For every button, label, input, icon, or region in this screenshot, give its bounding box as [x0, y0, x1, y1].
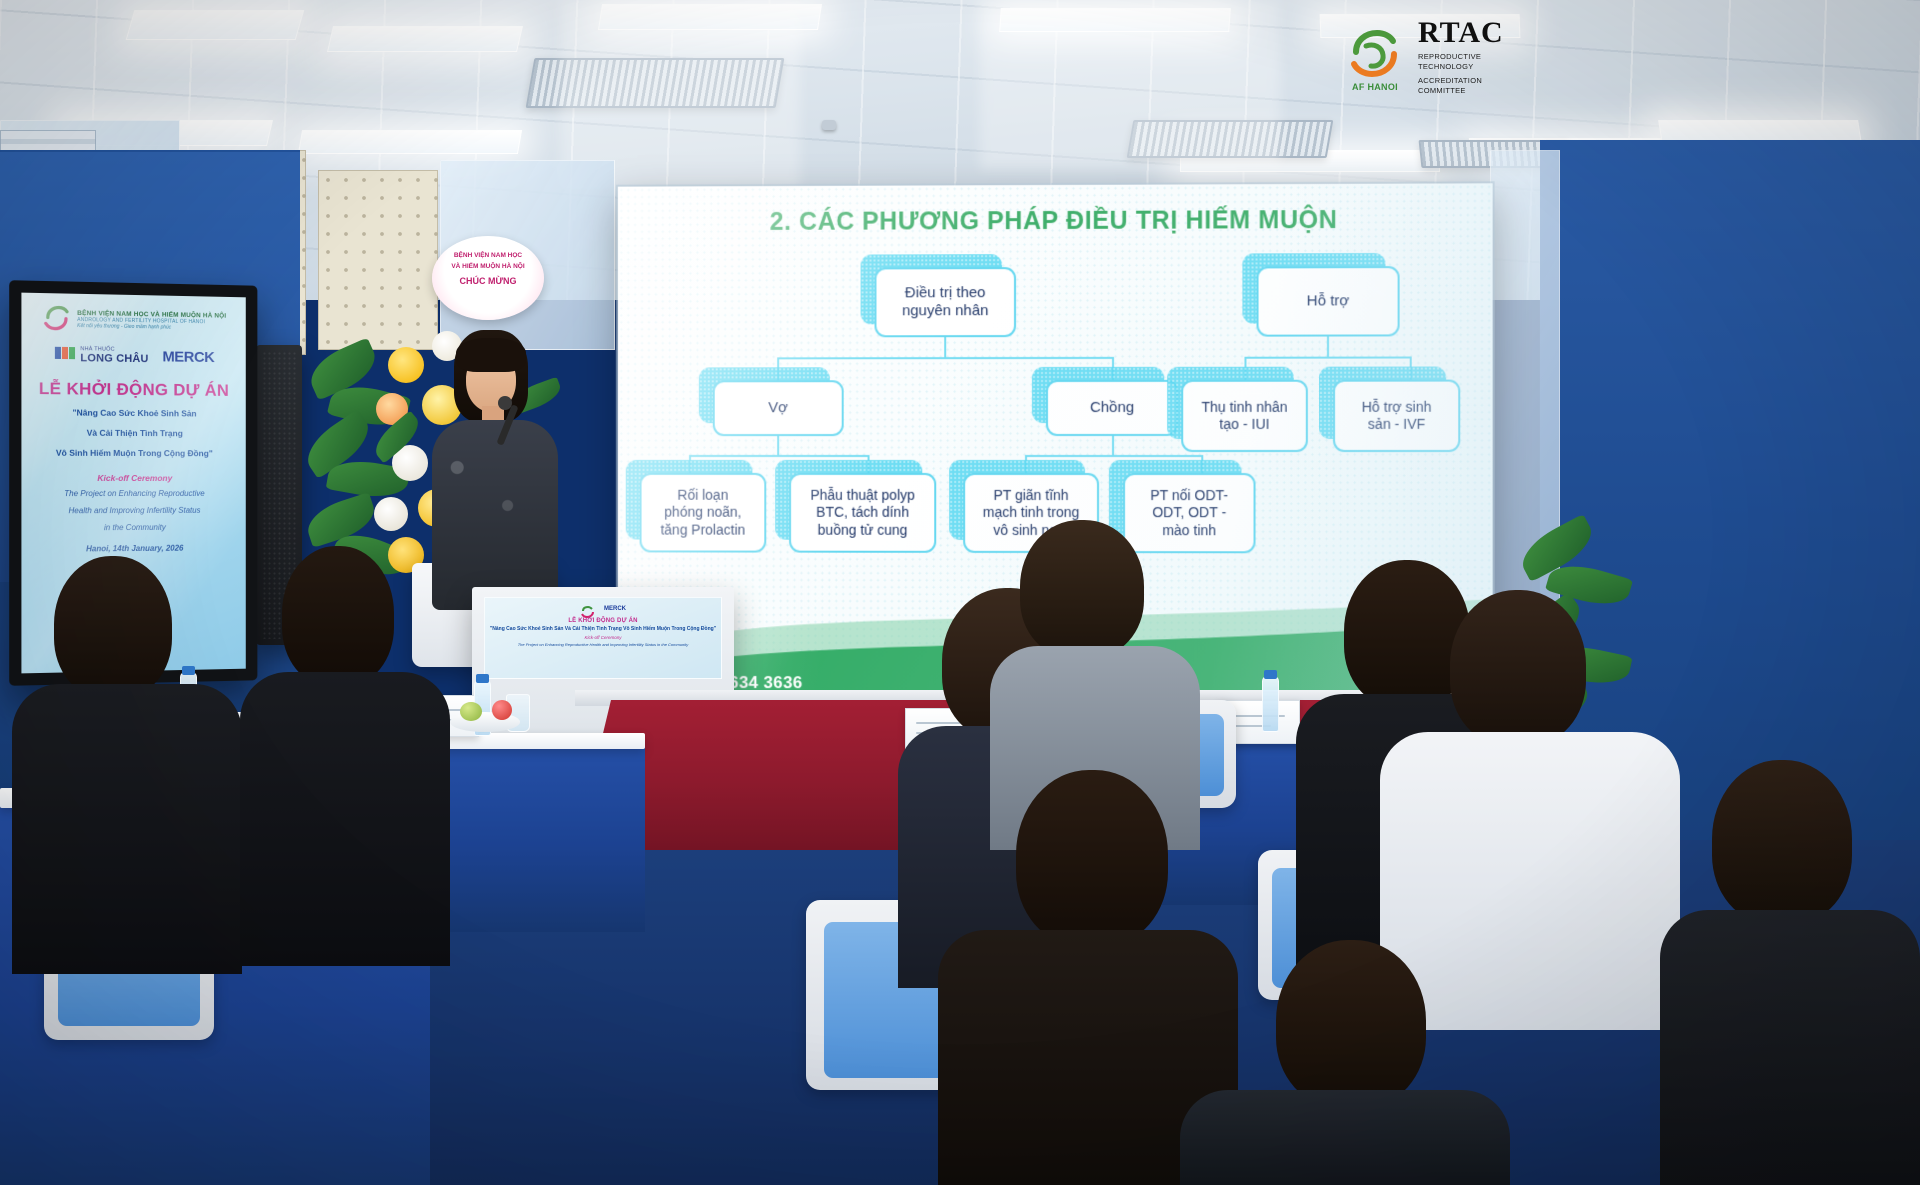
audience-head	[1016, 770, 1168, 946]
podium-kickoff: Kick-off Ceremony	[485, 635, 721, 640]
congratulation-ribbon: BỆNH VIỆN NAM HỌC VÀ HIẾM MUỘN HÀ NỘI CH…	[432, 236, 544, 320]
node-box: Rối loạn phóng noãn, tăng Prolactin	[640, 473, 767, 553]
connector	[1112, 435, 1114, 455]
node-line: Chồng	[1090, 399, 1134, 417]
node-line: Thụ tinh nhân	[1201, 399, 1287, 416]
audience-member	[12, 556, 242, 976]
af-hanoi-logo-icon: AF HANOI	[1342, 24, 1408, 90]
audience-head	[54, 556, 172, 698]
node-line: Rối loạn	[661, 487, 746, 504]
microphone-head	[498, 396, 512, 410]
sprinkler-head	[822, 120, 836, 130]
bottle-cap	[476, 674, 489, 683]
podium-title: LỄ KHỞI ĐỘNG DỰ ÁN	[485, 618, 721, 624]
rtac-text-block: RTAC REPRODUCTIVE TECHNOLOGY ACCREDITATI…	[1418, 18, 1532, 97]
node-line: Vợ	[768, 399, 788, 417]
audience-head	[1020, 520, 1144, 658]
node-line: phóng noãn,	[661, 504, 746, 521]
connector	[1327, 337, 1329, 357]
connector	[689, 455, 868, 457]
presenter-body	[432, 420, 558, 610]
connector	[944, 337, 946, 357]
node-line: Điều trị theo	[902, 284, 988, 302]
node-box: Thụ tinh nhân tạo - IUI	[1181, 380, 1308, 452]
audience-shoulders	[1180, 1090, 1510, 1185]
node-line: PT nối ODT-	[1150, 487, 1228, 504]
fruit-grape	[460, 702, 482, 721]
node-line: BTC, tách dính	[810, 504, 914, 521]
node-box: Hỗ trợ	[1257, 266, 1400, 337]
conference-scene: AF HANOI RTAC REPRODUCTIVE TECHNOLOGY AC…	[0, 0, 1920, 1185]
audience-member	[240, 546, 450, 966]
connector	[1025, 455, 1201, 457]
podium-subtitle: "Nâng Cao Sức Khoẻ Sinh Sản Và Cải Thiện…	[485, 626, 721, 632]
audience-head	[282, 546, 394, 686]
node-line: buồng tử cung	[810, 521, 914, 538]
podium-logos: MERCK	[485, 606, 721, 618]
node-line: Phẫu thuật polyp	[810, 487, 914, 504]
bottle-cap	[1264, 670, 1277, 679]
node-line: mạch tinh trong	[983, 504, 1079, 521]
node-box: Chồng	[1046, 380, 1178, 436]
node-box: Phẫu thuật polyp BTC, tách dính buồng tử…	[789, 473, 936, 553]
audience-head	[1450, 590, 1586, 746]
diagram-node-husband: Chồng	[1046, 380, 1178, 436]
connector	[777, 435, 779, 455]
audience-head	[1712, 760, 1852, 924]
node-line: sản - IVF	[1362, 416, 1432, 433]
rtac-subtitle-1: REPRODUCTIVE TECHNOLOGY	[1418, 52, 1532, 72]
audience-table-mid	[430, 742, 645, 932]
audience-shoulders	[240, 672, 450, 966]
rtac-subtitle-2: ACCREDITATION COMMITTEE	[1418, 76, 1532, 96]
podium-merck-logo: MERCK	[604, 606, 626, 618]
audience-head	[1276, 940, 1426, 1108]
af-hanoi-label: AF HANOI	[1342, 82, 1408, 92]
ribbon-line-2: VÀ HIẾM MUỘN HÀ NỘI	[432, 263, 544, 270]
audience-shoulders	[12, 684, 242, 974]
diagram-node-ivf: Hỗ trợ sinh sản - IVF	[1333, 380, 1460, 452]
audience-member	[1180, 940, 1510, 1185]
ceiling-light	[126, 10, 305, 40]
af-hanoi-logo-icon	[580, 606, 596, 618]
presenter-fringe	[456, 338, 526, 372]
node-line: Hỗ trợ	[1307, 292, 1350, 310]
node-line: tạo - IUI	[1201, 416, 1287, 433]
rtac-logo: AF HANOI RTAC REPRODUCTIVE TECHNOLOGY AC…	[1342, 14, 1532, 100]
fruit-apple	[492, 700, 512, 720]
node-line: nguyên nhân	[902, 302, 988, 320]
perforated-wall-panel	[318, 170, 438, 350]
node-box: Vợ	[713, 380, 844, 436]
diagram-node-wife: Vợ	[713, 380, 844, 436]
podium-english: The Project on Enhancing Reproductive He…	[485, 642, 721, 647]
node-line: tăng Prolactin	[661, 521, 746, 538]
podium-banner: MERCK LỄ KHỞI ĐỘNG DỰ ÁN "Nâng Cao Sức K…	[484, 597, 722, 679]
node-line: PT giãn tĩnh	[983, 487, 1079, 504]
diagram-node-polyp: Phẫu thuật polyp BTC, tách dính buồng tử…	[789, 473, 936, 553]
node-line: Hỗ trợ sinh	[1362, 399, 1432, 416]
ribbon-line-1: BỆNH VIỆN NAM HỌC	[432, 252, 544, 259]
node-box: Hỗ trợ sinh sản - IVF	[1333, 380, 1460, 452]
diagram-node-root-left: Điều trị theo nguyên nhân	[875, 267, 1017, 337]
ceiling-light	[298, 130, 522, 154]
light-beam	[980, 0, 1280, 170]
connector	[1244, 357, 1409, 359]
node-box: Điều trị theo nguyên nhân	[875, 267, 1017, 337]
diagram-node-iui: Thụ tinh nhân tạo - IUI	[1181, 380, 1308, 452]
rtac-wordmark: RTAC	[1418, 18, 1532, 48]
ceiling-light	[327, 26, 523, 52]
water-bottle	[1262, 676, 1279, 732]
slide-title: 2. CÁC PHƯƠNG PHÁP ĐIỀU TRỊ HIẾM MUỘN	[618, 205, 1493, 237]
audience-member	[1660, 760, 1920, 1185]
diagram-node-root-right: Hỗ trợ	[1257, 266, 1400, 337]
ribbon-line-3: CHÚC MỪNG	[432, 276, 544, 286]
audience-shoulders	[1660, 910, 1920, 1185]
diagram-node-ovulation: Rối loạn phóng noãn, tăng Prolactin	[640, 473, 767, 553]
